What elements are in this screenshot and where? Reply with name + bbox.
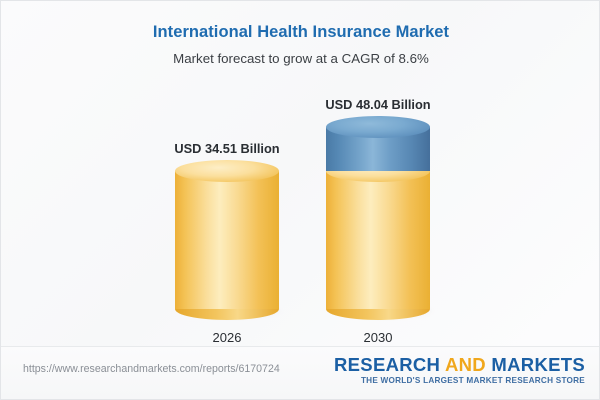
cylinder-body-2026 (175, 171, 279, 309)
brand-logo[interactable]: RESEARCH AND MARKETS THE WORLD'S LARGEST… (334, 355, 585, 385)
footer: https://www.researchandmarkets.com/repor… (1, 346, 600, 399)
cylinder-2026 (175, 171, 279, 309)
cylinder-top-ellipse-2030 (326, 116, 430, 138)
cylinder-2030 (326, 127, 430, 309)
infographic-card: International Health Insurance Market Ma… (0, 0, 600, 400)
source-url[interactable]: https://www.researchandmarkets.com/repor… (23, 363, 280, 375)
chart-header: International Health Insurance Market Ma… (1, 1, 600, 66)
logo-tagline: THE WORLD'S LARGEST MARKET RESEARCH STOR… (334, 376, 585, 385)
cylinder-top-ellipse-2026 (175, 160, 279, 182)
bar-segment-base-2026 (175, 171, 279, 309)
category-label-2030: 2030 (298, 330, 458, 345)
bar-group-2030[interactable]: USD 48.04 Billion 2030 (298, 89, 458, 347)
bar-value-label-2030: USD 48.04 Billion (298, 97, 458, 112)
chart-plot-area: USD 34.51 Billion 2026 USD 48.04 Billion (1, 89, 600, 347)
cylinder-body-base-2030 (326, 171, 430, 309)
logo-word-and: AND (445, 354, 486, 375)
chart-subtitle: Market forecast to grow at a CAGR of 8.6… (1, 51, 600, 66)
logo-word-research: RESEARCH (334, 354, 440, 375)
page-title: International Health Insurance Market (1, 23, 600, 42)
bar-segment-growth-2030 (326, 127, 430, 171)
category-label-2026: 2026 (147, 330, 307, 345)
logo-word-markets: MARKETS (491, 354, 585, 375)
bar-group-2026[interactable]: USD 34.51 Billion 2026 (147, 89, 307, 347)
bar-value-label-2026: USD 34.51 Billion (147, 141, 307, 156)
bar-segment-base-2030 (326, 171, 430, 309)
logo-wordmark: RESEARCH AND MARKETS (334, 355, 585, 374)
